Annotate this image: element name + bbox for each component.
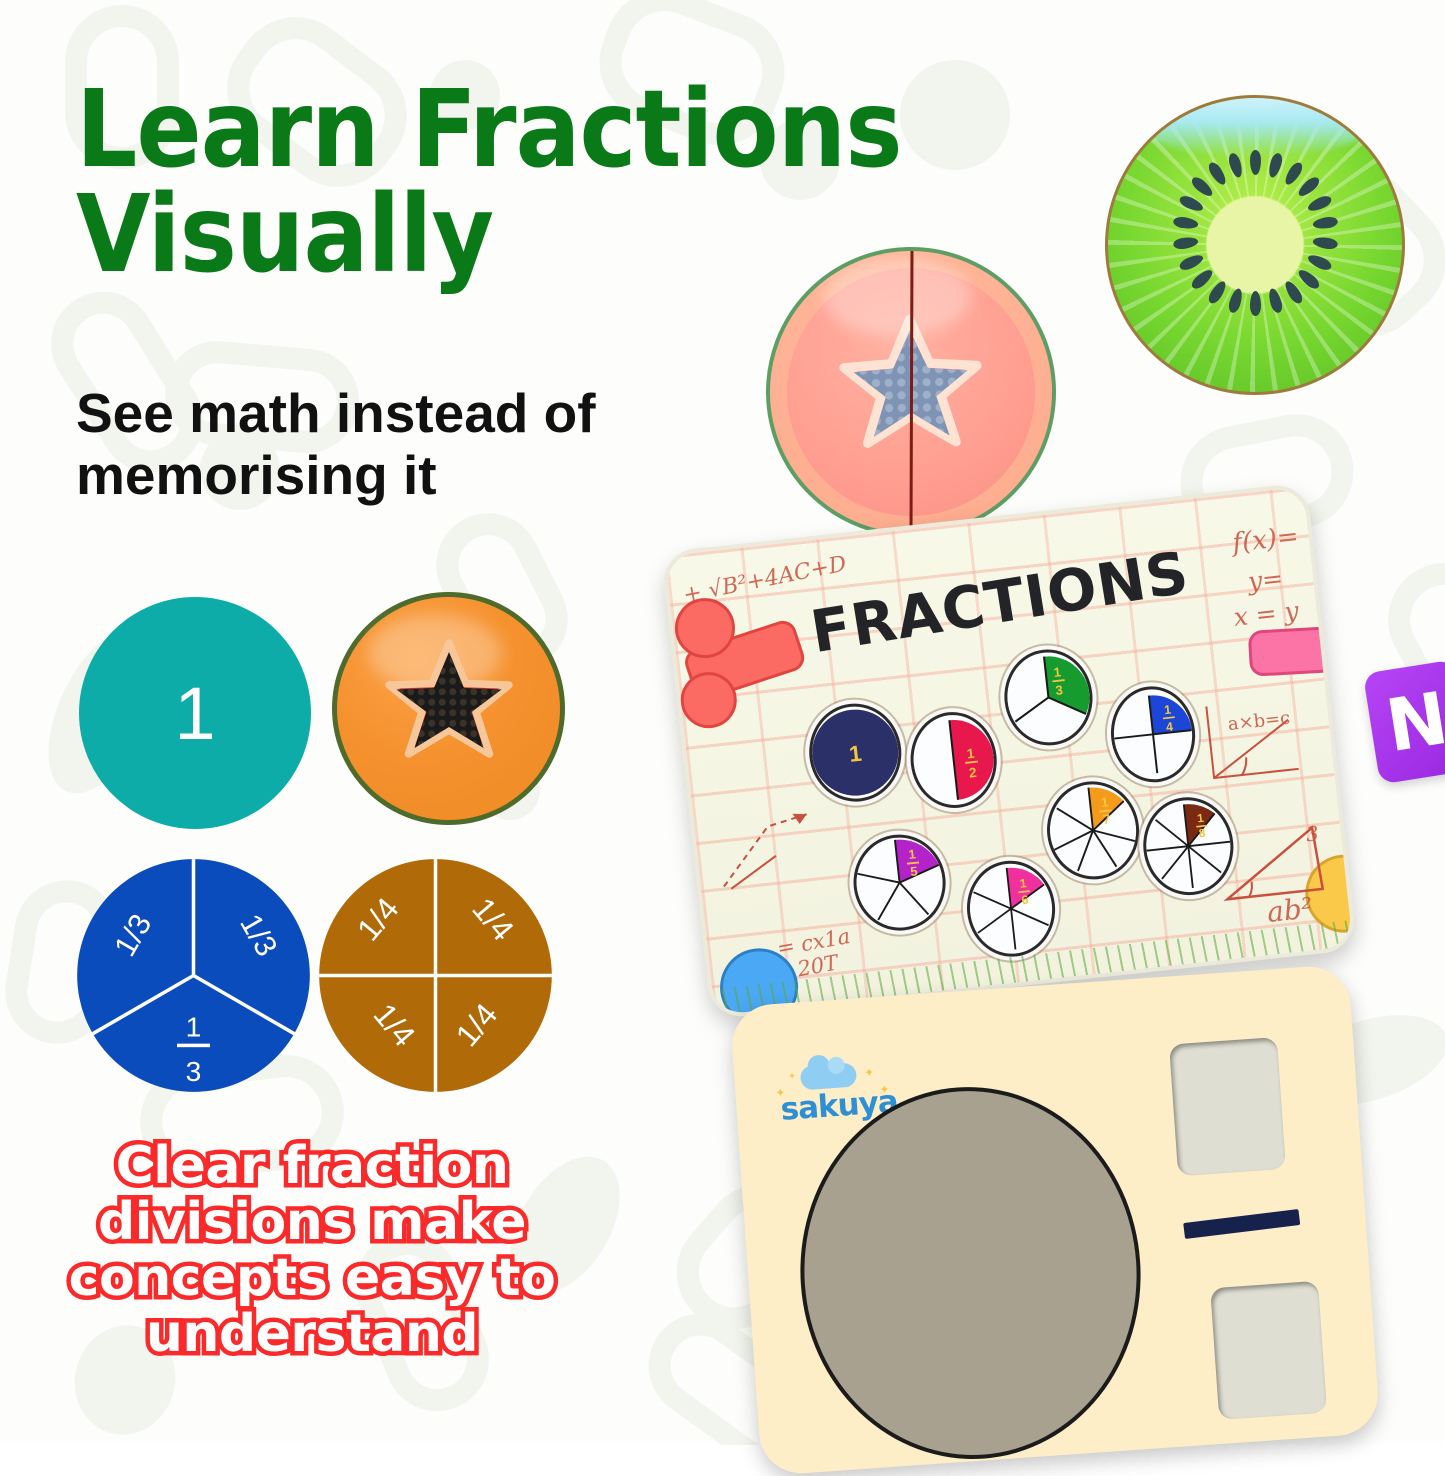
tray-fraction-bar <box>1183 1209 1300 1239</box>
kiwi-highlight <box>1132 95 1379 157</box>
fourths-fraction-disc: 1/4 1/4 1/4 1/4 <box>318 858 553 1093</box>
tray-slot-bottom <box>1210 1281 1327 1420</box>
kiwi-seed <box>1178 252 1205 272</box>
kiwi-seed <box>1296 267 1322 292</box>
kiwi-seed <box>1189 267 1215 292</box>
kiwi-seed <box>1206 160 1229 187</box>
fractions-board: + √B²+4AC+D = cx1a 20T f(x)= y= x = y a×… <box>661 482 1358 1019</box>
kiwi-seed <box>1312 236 1338 250</box>
thirds-fraction-disc: 1/3 1/3 1 3 <box>76 858 311 1093</box>
feature-caption: Clear fraction divisions make concepts e… <box>52 1138 572 1363</box>
kiwi-seed <box>1306 252 1333 272</box>
star-icon-4: ✦ <box>788 1071 796 1082</box>
third-label-bottom-d: 3 <box>186 1055 202 1087</box>
kiwi-seed <box>1250 150 1261 175</box>
tray-slot-top <box>1169 1037 1286 1176</box>
kiwi-fruit-disc <box>1105 95 1405 395</box>
wooden-fraction-tray: ✦ ✦ ✦ ✦ sakuya <box>729 964 1380 1476</box>
kiwi-seed <box>1206 279 1229 306</box>
kiwi-seed <box>1173 236 1199 250</box>
angle-doodle-icon <box>1186 689 1306 800</box>
kiwi-seed <box>1173 216 1199 230</box>
kiwi-seed <box>1306 194 1333 214</box>
whole-disc-label: 1 <box>79 597 311 829</box>
star-icon-2: ✦ <box>864 1065 875 1080</box>
kiwi-seed <box>1296 174 1322 199</box>
arrow-doodle-icon <box>710 790 840 902</box>
third-label-bottom-bar <box>177 1044 210 1048</box>
doodle-y: y= <box>1246 563 1284 596</box>
tray-circle-well <box>788 1076 1153 1471</box>
kiwi-seed <box>1250 291 1261 316</box>
kiwi-seed <box>1282 160 1305 187</box>
page-subtitle: See math instead of memorising it <box>76 383 716 506</box>
kiwi-seed <box>1189 174 1215 199</box>
kiwi-seed <box>1312 216 1338 230</box>
third-label-bottom-n: 1 <box>186 1011 202 1043</box>
kiwi-seed <box>1178 194 1205 214</box>
kiwi-seed <box>1267 287 1285 314</box>
star-seed-icon <box>374 634 524 784</box>
whole-fraction-disc: 1 <box>79 597 311 829</box>
papaya-fruit-disc <box>332 592 565 825</box>
kiwi-seed <box>1227 287 1245 314</box>
triangle-doodle-icon <box>1216 816 1334 907</box>
kiwi-seed <box>1282 279 1305 306</box>
